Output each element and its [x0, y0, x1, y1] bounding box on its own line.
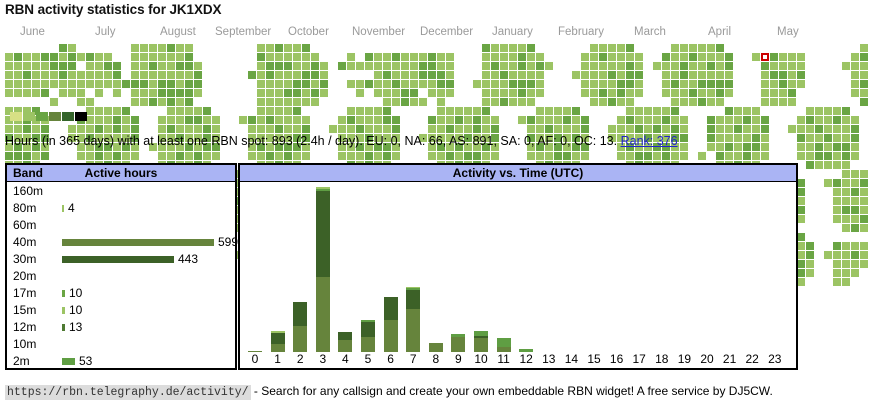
- heatmap-cell[interactable]: [176, 71, 184, 79]
- heatmap-cell[interactable]: [680, 152, 688, 160]
- heatmap-cell[interactable]: [806, 242, 814, 250]
- activity-bar[interactable]: [316, 187, 330, 352]
- heatmap-cell[interactable]: [860, 71, 868, 79]
- heatmap-cell[interactable]: [716, 116, 724, 124]
- heatmap-cell[interactable]: [689, 44, 697, 52]
- heatmap-cell[interactable]: [626, 89, 634, 97]
- heatmap-cell[interactable]: [176, 89, 184, 97]
- heatmap-cell[interactable]: [266, 98, 274, 106]
- heatmap-cell[interactable]: [662, 89, 670, 97]
- heatmap-cell[interactable]: [176, 107, 184, 115]
- heatmap-cell[interactable]: [545, 62, 553, 70]
- heatmap-cell[interactable]: [689, 71, 697, 79]
- heatmap-cell[interactable]: [707, 44, 715, 52]
- heatmap-cell[interactable]: [77, 125, 85, 133]
- heatmap-cell[interactable]: [491, 44, 499, 52]
- heatmap-cell[interactable]: [95, 62, 103, 70]
- heatmap-cell[interactable]: [437, 71, 445, 79]
- heatmap-cell[interactable]: [716, 80, 724, 88]
- heatmap-cell[interactable]: [635, 62, 643, 70]
- heatmap-cell[interactable]: [626, 98, 634, 106]
- heatmap-cell[interactable]: [770, 71, 778, 79]
- heatmap-cell[interactable]: [131, 116, 139, 124]
- heatmap-cell[interactable]: [671, 53, 679, 61]
- heatmap-cell[interactable]: [788, 89, 796, 97]
- heatmap-cell[interactable]: [473, 107, 481, 115]
- heatmap-cell[interactable]: [536, 62, 544, 70]
- heatmap-cell[interactable]: [491, 80, 499, 88]
- heatmap-cell[interactable]: [437, 125, 445, 133]
- heatmap-cell[interactable]: [383, 98, 391, 106]
- heatmap-cell[interactable]: [437, 116, 445, 124]
- heatmap-cell[interactable]: [527, 80, 535, 88]
- heatmap-cell[interactable]: [833, 134, 841, 142]
- heatmap-cell[interactable]: [275, 89, 283, 97]
- heatmap-cell[interactable]: [860, 80, 868, 88]
- heatmap-cell[interactable]: [383, 80, 391, 88]
- heatmap-cell[interactable]: [851, 134, 859, 142]
- heatmap-cell[interactable]: [275, 44, 283, 52]
- heatmap-cell[interactable]: [68, 89, 76, 97]
- heatmap-cell[interactable]: [527, 98, 535, 106]
- heatmap-cell[interactable]: [266, 152, 274, 160]
- heatmap-cell[interactable]: [851, 80, 859, 88]
- heatmap-cell[interactable]: [824, 251, 832, 259]
- heatmap-cell[interactable]: [707, 89, 715, 97]
- heatmap-cell[interactable]: [266, 107, 274, 115]
- heatmap-cell[interactable]: [824, 161, 832, 169]
- heatmap-cell[interactable]: [626, 116, 634, 124]
- heatmap-cell[interactable]: [428, 125, 436, 133]
- heatmap-cell[interactable]: [86, 71, 94, 79]
- heatmap-cell[interactable]: [95, 152, 103, 160]
- activity-bar[interactable]: [293, 302, 307, 352]
- heatmap-cell[interactable]: [284, 89, 292, 97]
- heatmap-cell[interactable]: [734, 107, 742, 115]
- heatmap-cell[interactable]: [293, 98, 301, 106]
- heatmap-cell[interactable]: [617, 98, 625, 106]
- heatmap-cell[interactable]: [266, 125, 274, 133]
- heatmap-cell[interactable]: [167, 53, 175, 61]
- heatmap-cell[interactable]: [419, 80, 427, 88]
- heatmap-cell[interactable]: [842, 224, 850, 232]
- heatmap-cell[interactable]: [707, 125, 715, 133]
- heatmap-cell[interactable]: [806, 107, 814, 115]
- heatmap-cell[interactable]: [824, 179, 832, 187]
- heatmap-cell[interactable]: [500, 53, 508, 61]
- heatmap-cell[interactable]: [851, 125, 859, 133]
- heatmap-cell[interactable]: [734, 125, 742, 133]
- heatmap-cell[interactable]: [527, 71, 535, 79]
- heatmap-cell[interactable]: [626, 53, 634, 61]
- heatmap-cell[interactable]: [257, 80, 265, 88]
- heatmap-cell[interactable]: [149, 44, 157, 52]
- heatmap-cell[interactable]: [662, 80, 670, 88]
- heatmap-cell[interactable]: [671, 125, 679, 133]
- heatmap-cell[interactable]: [140, 89, 148, 97]
- heatmap-cell[interactable]: [725, 89, 733, 97]
- heatmap-cell[interactable]: [842, 251, 850, 259]
- heatmap-cell[interactable]: [59, 44, 67, 52]
- heatmap-cell[interactable]: [68, 71, 76, 79]
- heatmap-cell[interactable]: [311, 98, 319, 106]
- heatmap-cell[interactable]: [653, 152, 661, 160]
- heatmap-cell[interactable]: [707, 134, 715, 142]
- heatmap-cell[interactable]: [860, 260, 868, 268]
- heatmap-cell[interactable]: [554, 107, 562, 115]
- heatmap-cell[interactable]: [131, 71, 139, 79]
- heatmap-cell[interactable]: [797, 179, 805, 187]
- heatmap-cell[interactable]: [833, 161, 841, 169]
- heatmap-cell[interactable]: [158, 152, 166, 160]
- heatmap-cell[interactable]: [5, 80, 13, 88]
- heatmap-cell[interactable]: [293, 152, 301, 160]
- heatmap-cell[interactable]: [653, 107, 661, 115]
- heatmap-cell[interactable]: [851, 53, 859, 61]
- heatmap-cell[interactable]: [707, 53, 715, 61]
- heatmap-cell[interactable]: [644, 125, 652, 133]
- heatmap-cell[interactable]: [437, 98, 445, 106]
- heatmap-cell[interactable]: [167, 116, 175, 124]
- heatmap-cell[interactable]: [158, 89, 166, 97]
- activity-bar[interactable]: [429, 343, 443, 352]
- heatmap-cell[interactable]: [752, 152, 760, 160]
- heatmap-cell[interactable]: [617, 62, 625, 70]
- heatmap-cell[interactable]: [518, 44, 526, 52]
- heatmap-cell[interactable]: [725, 152, 733, 160]
- heatmap-cell[interactable]: [851, 197, 859, 205]
- heatmap-cell[interactable]: [50, 71, 58, 79]
- heatmap-cell[interactable]: [104, 62, 112, 70]
- heatmap-cell[interactable]: [374, 53, 382, 61]
- heatmap-cell[interactable]: [626, 107, 634, 115]
- heatmap-cell[interactable]: [716, 98, 724, 106]
- heatmap-cell[interactable]: [446, 107, 454, 115]
- heatmap-cell[interactable]: [635, 71, 643, 79]
- heatmap-cell[interactable]: [707, 98, 715, 106]
- heatmap-cell[interactable]: [842, 170, 850, 178]
- heatmap-cell[interactable]: [815, 125, 823, 133]
- heatmap-cell[interactable]: [266, 80, 274, 88]
- activity-bar[interactable]: [406, 287, 420, 352]
- heatmap-cell[interactable]: [167, 44, 175, 52]
- heatmap-cell[interactable]: [23, 125, 31, 133]
- heatmap-cell[interactable]: [104, 107, 112, 115]
- heatmap-cell[interactable]: [797, 188, 805, 196]
- heatmap-cell[interactable]: [779, 80, 787, 88]
- heatmap-cell[interactable]: [491, 53, 499, 61]
- heatmap-cell[interactable]: [176, 44, 184, 52]
- heatmap-cell[interactable]: [32, 152, 40, 160]
- heatmap-cell[interactable]: [698, 80, 706, 88]
- heatmap-cell[interactable]: [257, 53, 265, 61]
- heatmap-cell[interactable]: [338, 125, 346, 133]
- heatmap-cell[interactable]: [626, 62, 634, 70]
- heatmap-cell[interactable]: [680, 143, 688, 151]
- heatmap-cell[interactable]: [455, 125, 463, 133]
- heatmap-cell[interactable]: [23, 62, 31, 70]
- heatmap-cell[interactable]: [662, 107, 670, 115]
- heatmap-cell[interactable]: [608, 89, 616, 97]
- heatmap-cell[interactable]: [365, 80, 373, 88]
- heatmap-cell[interactable]: [743, 143, 751, 151]
- heatmap-cell[interactable]: [725, 53, 733, 61]
- heatmap-cell[interactable]: [320, 62, 328, 70]
- heatmap-cell[interactable]: [167, 125, 175, 133]
- heatmap-cell[interactable]: [158, 98, 166, 106]
- heatmap-cell[interactable]: [365, 125, 373, 133]
- heatmap-cell[interactable]: [68, 80, 76, 88]
- heatmap-cell[interactable]: [842, 260, 850, 268]
- heatmap-cell[interactable]: [365, 152, 373, 160]
- heatmap-cell[interactable]: [671, 152, 679, 160]
- heatmap-cell[interactable]: [527, 62, 535, 70]
- heatmap-cell[interactable]: [851, 179, 859, 187]
- heatmap-cell[interactable]: [50, 98, 58, 106]
- heatmap-cell[interactable]: [581, 152, 589, 160]
- heatmap-cell[interactable]: [797, 197, 805, 205]
- heatmap-cell[interactable]: [203, 116, 211, 124]
- heatmap-cell[interactable]: [842, 206, 850, 214]
- heatmap-cell[interactable]: [653, 116, 661, 124]
- heatmap-cell[interactable]: [311, 71, 319, 79]
- heatmap-cell[interactable]: [284, 152, 292, 160]
- heatmap-cell[interactable]: [797, 233, 805, 241]
- heatmap-cell[interactable]: [662, 53, 670, 61]
- heatmap-cell[interactable]: [518, 98, 526, 106]
- heatmap-cell[interactable]: [185, 71, 193, 79]
- heatmap-cell[interactable]: [212, 116, 220, 124]
- heatmap-cell[interactable]: [689, 80, 697, 88]
- heatmap-cell[interactable]: [32, 89, 40, 97]
- heatmap-cell[interactable]: [482, 125, 490, 133]
- heatmap-cell[interactable]: [140, 80, 148, 88]
- heatmap-cell[interactable]: [824, 107, 832, 115]
- heatmap-cell[interactable]: [176, 152, 184, 160]
- heatmap-cell[interactable]: [842, 179, 850, 187]
- heatmap-cell[interactable]: [797, 260, 805, 268]
- heatmap-cell[interactable]: [662, 71, 670, 79]
- heatmap-cell[interactable]: [617, 116, 625, 124]
- heatmap-cell[interactable]: [167, 107, 175, 115]
- heatmap-cell[interactable]: [806, 143, 814, 151]
- heatmap-cell[interactable]: [797, 71, 805, 79]
- heatmap-cell[interactable]: [311, 62, 319, 70]
- heatmap-cell[interactable]: [563, 107, 571, 115]
- heatmap-cell[interactable]: [284, 116, 292, 124]
- heatmap-cell[interactable]: [725, 125, 733, 133]
- heatmap-cell[interactable]: [176, 53, 184, 61]
- heatmap-cell[interactable]: [671, 62, 679, 70]
- heatmap-cell[interactable]: [491, 98, 499, 106]
- heatmap-cell[interactable]: [617, 152, 625, 160]
- heatmap-cell[interactable]: [608, 80, 616, 88]
- heatmap-cell[interactable]: [545, 152, 553, 160]
- heatmap-cell[interactable]: [347, 53, 355, 61]
- heatmap-cell[interactable]: [257, 152, 265, 160]
- heatmap-cell[interactable]: [140, 98, 148, 106]
- heatmap-cell[interactable]: [509, 62, 517, 70]
- heatmap-cell[interactable]: [815, 116, 823, 124]
- heatmap-cell[interactable]: [608, 125, 616, 133]
- heatmap-cell[interactable]: [32, 53, 40, 61]
- heatmap-cell[interactable]: [302, 80, 310, 88]
- heatmap-cell[interactable]: [410, 53, 418, 61]
- heatmap-cell[interactable]: [482, 71, 490, 79]
- heatmap-cell[interactable]: [761, 80, 769, 88]
- heatmap-cell[interactable]: [536, 80, 544, 88]
- heatmap-cell[interactable]: [581, 125, 589, 133]
- heatmap-cell[interactable]: [860, 62, 868, 70]
- heatmap-cell[interactable]: [698, 62, 706, 70]
- heatmap-cell[interactable]: [131, 62, 139, 70]
- heatmap-cell[interactable]: [347, 152, 355, 160]
- heatmap-cell[interactable]: [482, 89, 490, 97]
- heatmap-cell[interactable]: [113, 71, 121, 79]
- heatmap-cell[interactable]: [536, 152, 544, 160]
- heatmap-cell[interactable]: [635, 152, 643, 160]
- heatmap-cell[interactable]: [590, 62, 598, 70]
- heatmap-cell[interactable]: [95, 89, 103, 97]
- heatmap-cell[interactable]: [14, 125, 22, 133]
- heatmap-cell[interactable]: [743, 125, 751, 133]
- heatmap-cell[interactable]: [626, 152, 634, 160]
- heatmap-cell[interactable]: [338, 116, 346, 124]
- heatmap-cell[interactable]: [131, 89, 139, 97]
- heatmap-cell[interactable]: [383, 116, 391, 124]
- heatmap-cell[interactable]: [338, 62, 346, 70]
- heatmap-cell[interactable]: [644, 116, 652, 124]
- heatmap-cell[interactable]: [41, 53, 49, 61]
- heatmap-cell[interactable]: [788, 125, 796, 133]
- heatmap-cell[interactable]: [860, 89, 868, 97]
- heatmap-cell[interactable]: [815, 134, 823, 142]
- heatmap-cell[interactable]: [275, 116, 283, 124]
- heatmap-cell[interactable]: [842, 215, 850, 223]
- heatmap-cell[interactable]: [266, 71, 274, 79]
- heatmap-cell[interactable]: [491, 62, 499, 70]
- heatmap-cell[interactable]: [788, 98, 796, 106]
- heatmap-cell[interactable]: [131, 80, 139, 88]
- heatmap-cell[interactable]: [851, 242, 859, 250]
- heatmap-cell[interactable]: [311, 80, 319, 88]
- activity-bar[interactable]: [497, 338, 511, 352]
- heatmap-cell[interactable]: [41, 152, 49, 160]
- heatmap-cell[interactable]: [464, 107, 472, 115]
- heatmap-cell[interactable]: [842, 107, 850, 115]
- heatmap-cell[interactable]: [644, 107, 652, 115]
- heatmap-cell[interactable]: [275, 62, 283, 70]
- heatmap-cell[interactable]: [770, 80, 778, 88]
- heatmap-cell[interactable]: [518, 71, 526, 79]
- heatmap-cell[interactable]: [788, 53, 796, 61]
- heatmap-cell[interactable]: [743, 134, 751, 142]
- heatmap-cell[interactable]: [842, 116, 850, 124]
- heatmap-cell[interactable]: [257, 62, 265, 70]
- heatmap-cell[interactable]: [590, 80, 598, 88]
- heatmap-cell[interactable]: [167, 89, 175, 97]
- heatmap-cell[interactable]: [536, 116, 544, 124]
- heatmap-cell[interactable]: [851, 62, 859, 70]
- heatmap-cell[interactable]: [851, 215, 859, 223]
- heatmap-cell[interactable]: [86, 53, 94, 61]
- heatmap-cell[interactable]: [815, 107, 823, 115]
- rank-link[interactable]: Rank: 376: [621, 134, 678, 148]
- heatmap-cell[interactable]: [428, 62, 436, 70]
- heatmap-cell[interactable]: [599, 44, 607, 52]
- heatmap-cell[interactable]: [185, 152, 193, 160]
- heatmap-cell[interactable]: [347, 116, 355, 124]
- heatmap-cell[interactable]: [167, 71, 175, 79]
- heatmap-cell[interactable]: [761, 71, 769, 79]
- heatmap-cell[interactable]: [275, 152, 283, 160]
- heatmap-cell[interactable]: [212, 152, 220, 160]
- heatmap-cell[interactable]: [680, 53, 688, 61]
- heatmap-cell[interactable]: [158, 80, 166, 88]
- heatmap-cell[interactable]: [95, 107, 103, 115]
- heatmap-cell[interactable]: [365, 62, 373, 70]
- heatmap-cell[interactable]: [716, 89, 724, 97]
- heatmap-cell[interactable]: [509, 53, 517, 61]
- heatmap-cell[interactable]: [32, 125, 40, 133]
- heatmap-cell[interactable]: [833, 143, 841, 151]
- heatmap-cell[interactable]: [383, 107, 391, 115]
- heatmap-cell[interactable]: [842, 62, 850, 70]
- heatmap-cell[interactable]: [635, 80, 643, 88]
- heatmap-cell[interactable]: [491, 89, 499, 97]
- heatmap-cell[interactable]: [482, 107, 490, 115]
- heatmap-cell[interactable]: [716, 71, 724, 79]
- heatmap-cell[interactable]: [599, 62, 607, 70]
- heatmap-cell[interactable]: [581, 89, 589, 97]
- heatmap-cell[interactable]: [149, 98, 157, 106]
- heatmap-cell[interactable]: [635, 107, 643, 115]
- heatmap-cell[interactable]: [725, 80, 733, 88]
- heatmap-cell[interactable]: [608, 62, 616, 70]
- heatmap-cell[interactable]: [383, 125, 391, 133]
- heatmap-cell[interactable]: [833, 251, 841, 259]
- heatmap-cell[interactable]: [149, 71, 157, 79]
- heatmap-cell[interactable]: [185, 98, 193, 106]
- heatmap-cell[interactable]: [131, 98, 139, 106]
- heatmap-cell[interactable]: [842, 269, 850, 277]
- heatmap-cell[interactable]: [293, 125, 301, 133]
- heatmap-cell[interactable]: [500, 44, 508, 52]
- heatmap-cell[interactable]: [581, 71, 589, 79]
- heatmap-cell[interactable]: [662, 62, 670, 70]
- heatmap-cell[interactable]: [851, 71, 859, 79]
- heatmap-cell[interactable]: [77, 89, 85, 97]
- heatmap-cell[interactable]: [581, 116, 589, 124]
- heatmap-cell[interactable]: [293, 44, 301, 52]
- heatmap-cell[interactable]: [446, 116, 454, 124]
- activity-bar[interactable]: [451, 334, 465, 352]
- heatmap-cell[interactable]: [581, 62, 589, 70]
- heatmap-cell[interactable]: [284, 107, 292, 115]
- heatmap-cell[interactable]: [860, 242, 868, 250]
- heatmap-cell[interactable]: [491, 152, 499, 160]
- heatmap-cell[interactable]: [842, 143, 850, 151]
- heatmap-cell[interactable]: [419, 53, 427, 61]
- heatmap-cell[interactable]: [284, 71, 292, 79]
- heatmap-cell[interactable]: [23, 152, 31, 160]
- heatmap-cell[interactable]: [662, 125, 670, 133]
- heatmap-cell[interactable]: [95, 80, 103, 88]
- heatmap-cell[interactable]: [698, 89, 706, 97]
- heatmap-cell[interactable]: [275, 53, 283, 61]
- heatmap-cell[interactable]: [599, 80, 607, 88]
- heatmap-cell[interactable]: [113, 107, 121, 115]
